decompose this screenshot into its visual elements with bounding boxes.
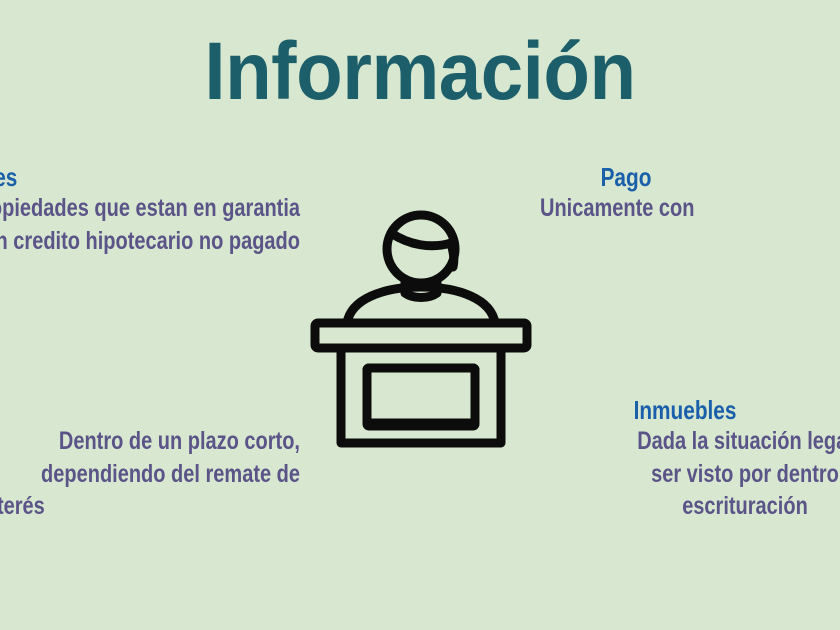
text-line: de un credito hipotecario no pagado [0,225,300,258]
info-block-remates-body: Propiedades que estan en garantia de un … [0,192,300,257]
info-block-inmuebles-body: Dada la situación legal ser visto por de… [545,425,840,523]
podium-speaker-icon [305,205,537,455]
text-line: interés [0,490,300,523]
text-line: ser visto por dentro [545,458,840,491]
text-line: Unicamente con [540,192,840,225]
info-block-remates-heading: Remates [0,163,300,192]
info-block-remates: Remates Propiedades que estan en garanti… [0,163,300,257]
info-block-entrega: Entrega Dentro de un plazo corto, depend… [0,396,300,523]
info-block-pago: Pago Unicamente con [540,163,840,225]
info-block-inmuebles: Inmuebles Dada la situación legal ser vi… [545,396,840,523]
page-title: Información [29,30,810,114]
text-line: Dada la situación legal [545,425,840,458]
info-block-entrega-body: Dentro de un plazo corto, dependiendo de… [0,425,300,523]
text-line: Dentro de un plazo corto, [0,425,300,458]
info-block-pago-heading: Pago [540,163,840,192]
text-line: Propiedades que estan en garantia [0,192,300,225]
info-block-inmuebles-heading: Inmuebles [545,396,840,425]
text-line: dependiendo del remate de [0,458,300,491]
slide-canvas: Información Remates Propiedades que esta… [0,0,840,630]
text-line: escrituración [545,490,840,523]
info-block-pago-body: Unicamente con [540,192,840,225]
info-block-entrega-heading: Entrega [0,396,300,425]
